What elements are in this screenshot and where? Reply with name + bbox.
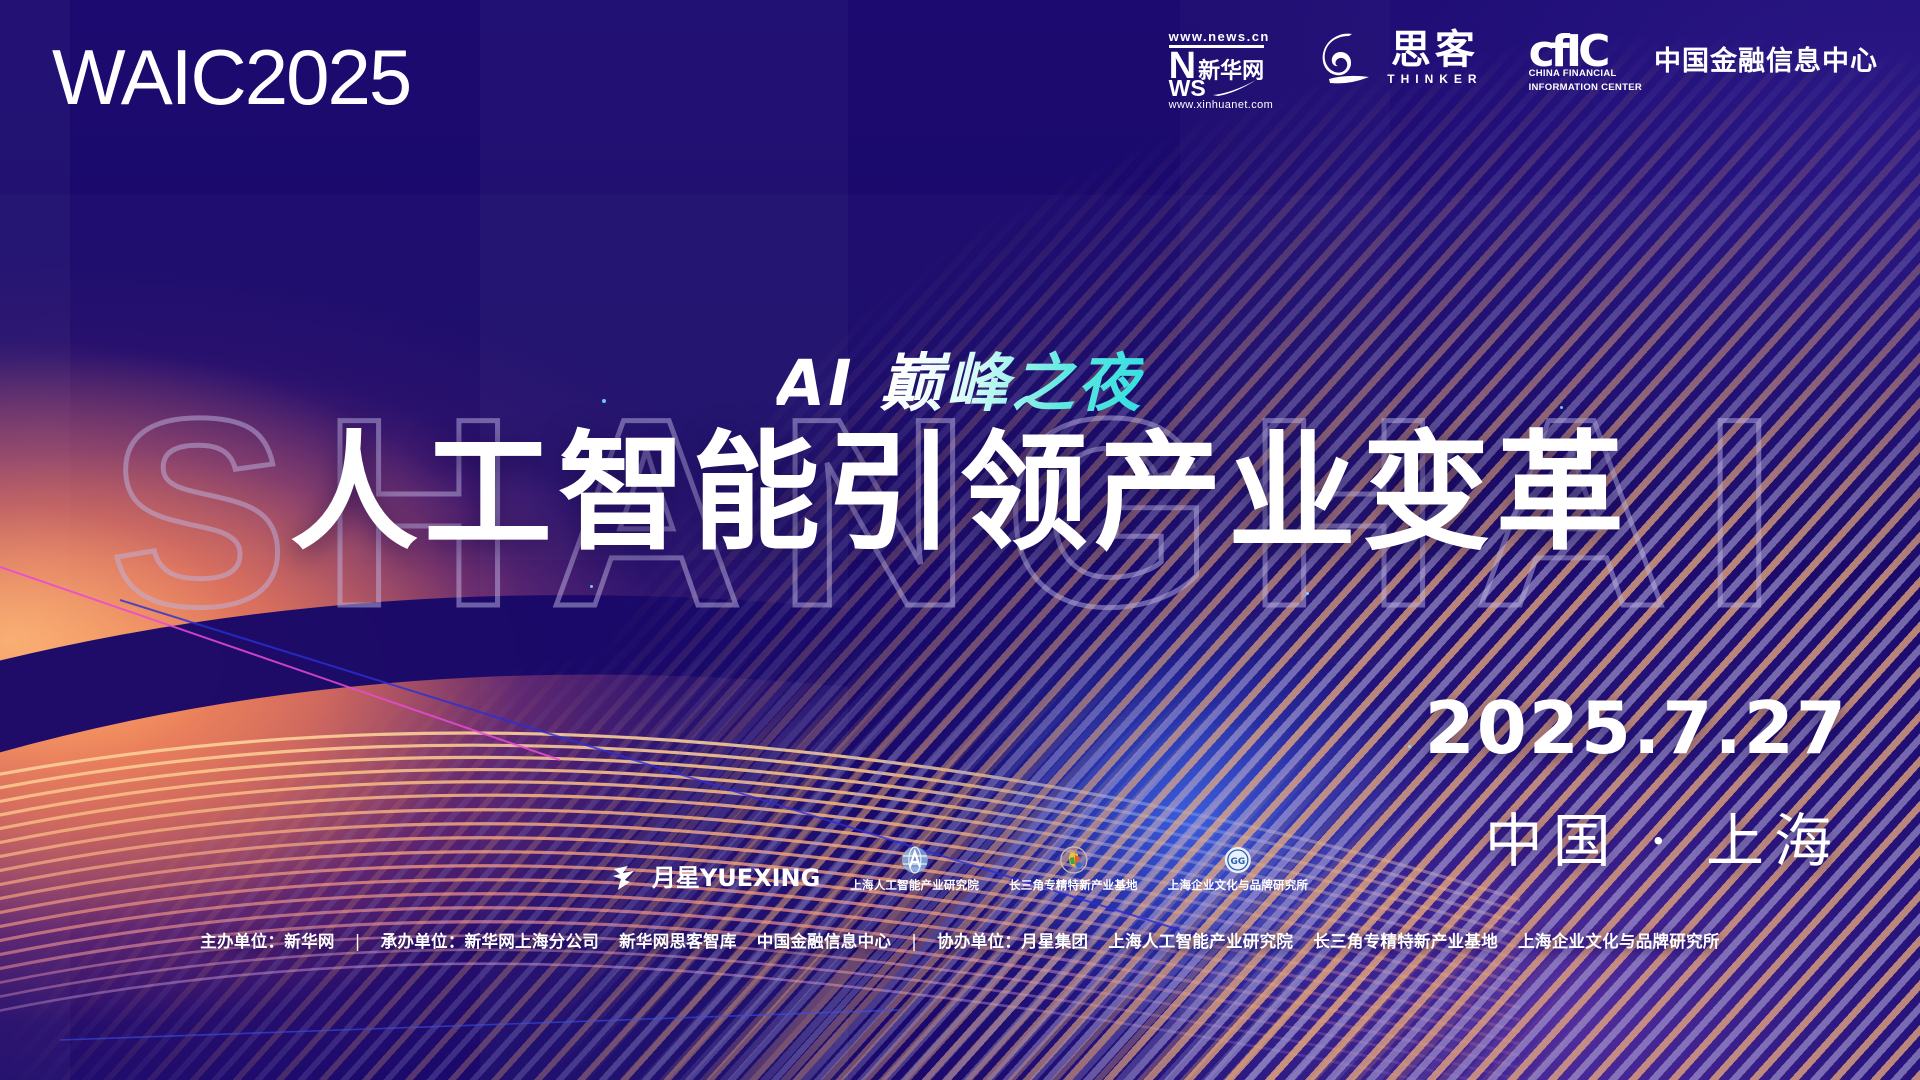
event-date: 2025.7.27 [1425, 692, 1848, 764]
partner-name: 上海企业文化与品牌研究所 [1168, 877, 1308, 893]
xinhua-swoosh-icon [1212, 79, 1258, 97]
event-subtitle: AI 巅峰之夜 [776, 333, 1143, 424]
credits-organizer-1: 新华网上海分公司 [465, 932, 599, 951]
cfic-name-en-line1: CHINA FINANCIAL [1529, 68, 1617, 80]
partner-logo-scbri: GG 上海企业文化与品牌研究所 [1168, 845, 1308, 893]
event-headline: 人工智能引领产业变革 [290, 430, 1630, 558]
xinhua-url-bottom: www.xinhuanet.com [1169, 99, 1274, 111]
sponsor-logo-group: www.news.cn N 新华网 WS www.xinhuanet.com [1169, 30, 1878, 111]
credits-organizer-3: 中国金融信息中心 [757, 932, 891, 951]
partner-name: 上海人工智能产业研究院 [850, 877, 979, 893]
partner-logo-saiir: 上海人工智能产业研究院 [850, 845, 979, 893]
credits-host-label: 主办单位： [200, 932, 284, 951]
thinker-name-cn: 思客 [1391, 30, 1479, 70]
credits-organizer-2: 新华网思客智库 [619, 932, 737, 951]
xinhua-ws-letters: WS [1169, 78, 1206, 99]
seal-icon: GG [1223, 845, 1253, 875]
thinker-swirl-icon [1319, 30, 1377, 86]
thinker-name-en: THINKER [1387, 72, 1482, 86]
credits-coorganizer-2: 上海人工智能产业研究院 [1108, 932, 1293, 951]
credits-organizer-label: 承办单位： [381, 932, 465, 951]
credits-coorganizer-1: 月星集团 [1021, 932, 1088, 951]
partner-name: 长三角专精特新产业基地 [1009, 877, 1138, 893]
waic-logo: WAIC2025 [52, 38, 410, 116]
star-bird-icon [612, 860, 646, 892]
partner-name: 月星YUEXING [652, 858, 820, 893]
partner-logo-yrd-base: 长三角专精特新产业基地 [1009, 845, 1138, 893]
cfic-name-en-line2: INFORMATION CENTER [1529, 82, 1642, 94]
cfic-name-cn: 中国金融信息中心 [1654, 48, 1878, 76]
waic-logo-text: WAIC2025 [52, 38, 410, 116]
credits-separator-2: | [897, 932, 931, 951]
credits-coorganizer-3: 长三角专精特新产业基地 [1313, 932, 1498, 951]
sparkle-dot [1408, 745, 1411, 748]
partner-logo-row: 月星YUEXING 上海人工智能产业研究院 长三角专精特新产业基地 [612, 845, 1308, 893]
sponsor-logo-thinker: 思客 THINKER [1319, 30, 1482, 86]
sponsor-logo-xinhua: www.news.cn N 新华网 WS www.xinhuanet.com [1169, 30, 1274, 111]
xinhua-url-top: www.news.cn [1169, 30, 1270, 44]
partner-logo-yuexing: 月星YUEXING [612, 858, 820, 893]
poster-canvas: SHANGHAI WAIC2025 www.news.cn N 新华网 WS [0, 0, 1920, 1080]
credits-separator-1: | [341, 932, 375, 951]
event-place: 中国 · 上海 [1485, 812, 1842, 870]
globe-icon [900, 845, 930, 875]
svg-text:GG: GG [1231, 857, 1246, 867]
credits-coorganizer-label: 协办单位： [937, 932, 1021, 951]
credits-coorganizer-4: 上海企业文化与品牌研究所 [1518, 932, 1720, 951]
sponsor-logo-cfic: cfIC CHINA FINANCIAL INFORMATION CENTER … [1529, 30, 1878, 94]
map-circle-icon [1058, 845, 1088, 875]
header: WAIC2025 www.news.cn N 新华网 WS www.xinhua… [0, 0, 1920, 140]
credits-line: 主办单位：新华网 | 承办单位：新华网上海分公司 新华网思客智库 中国金融信息中… [200, 928, 1719, 952]
credits-host-value: 新华网 [284, 932, 334, 951]
thinker-wordmark: 思客 THINKER [1387, 30, 1482, 86]
